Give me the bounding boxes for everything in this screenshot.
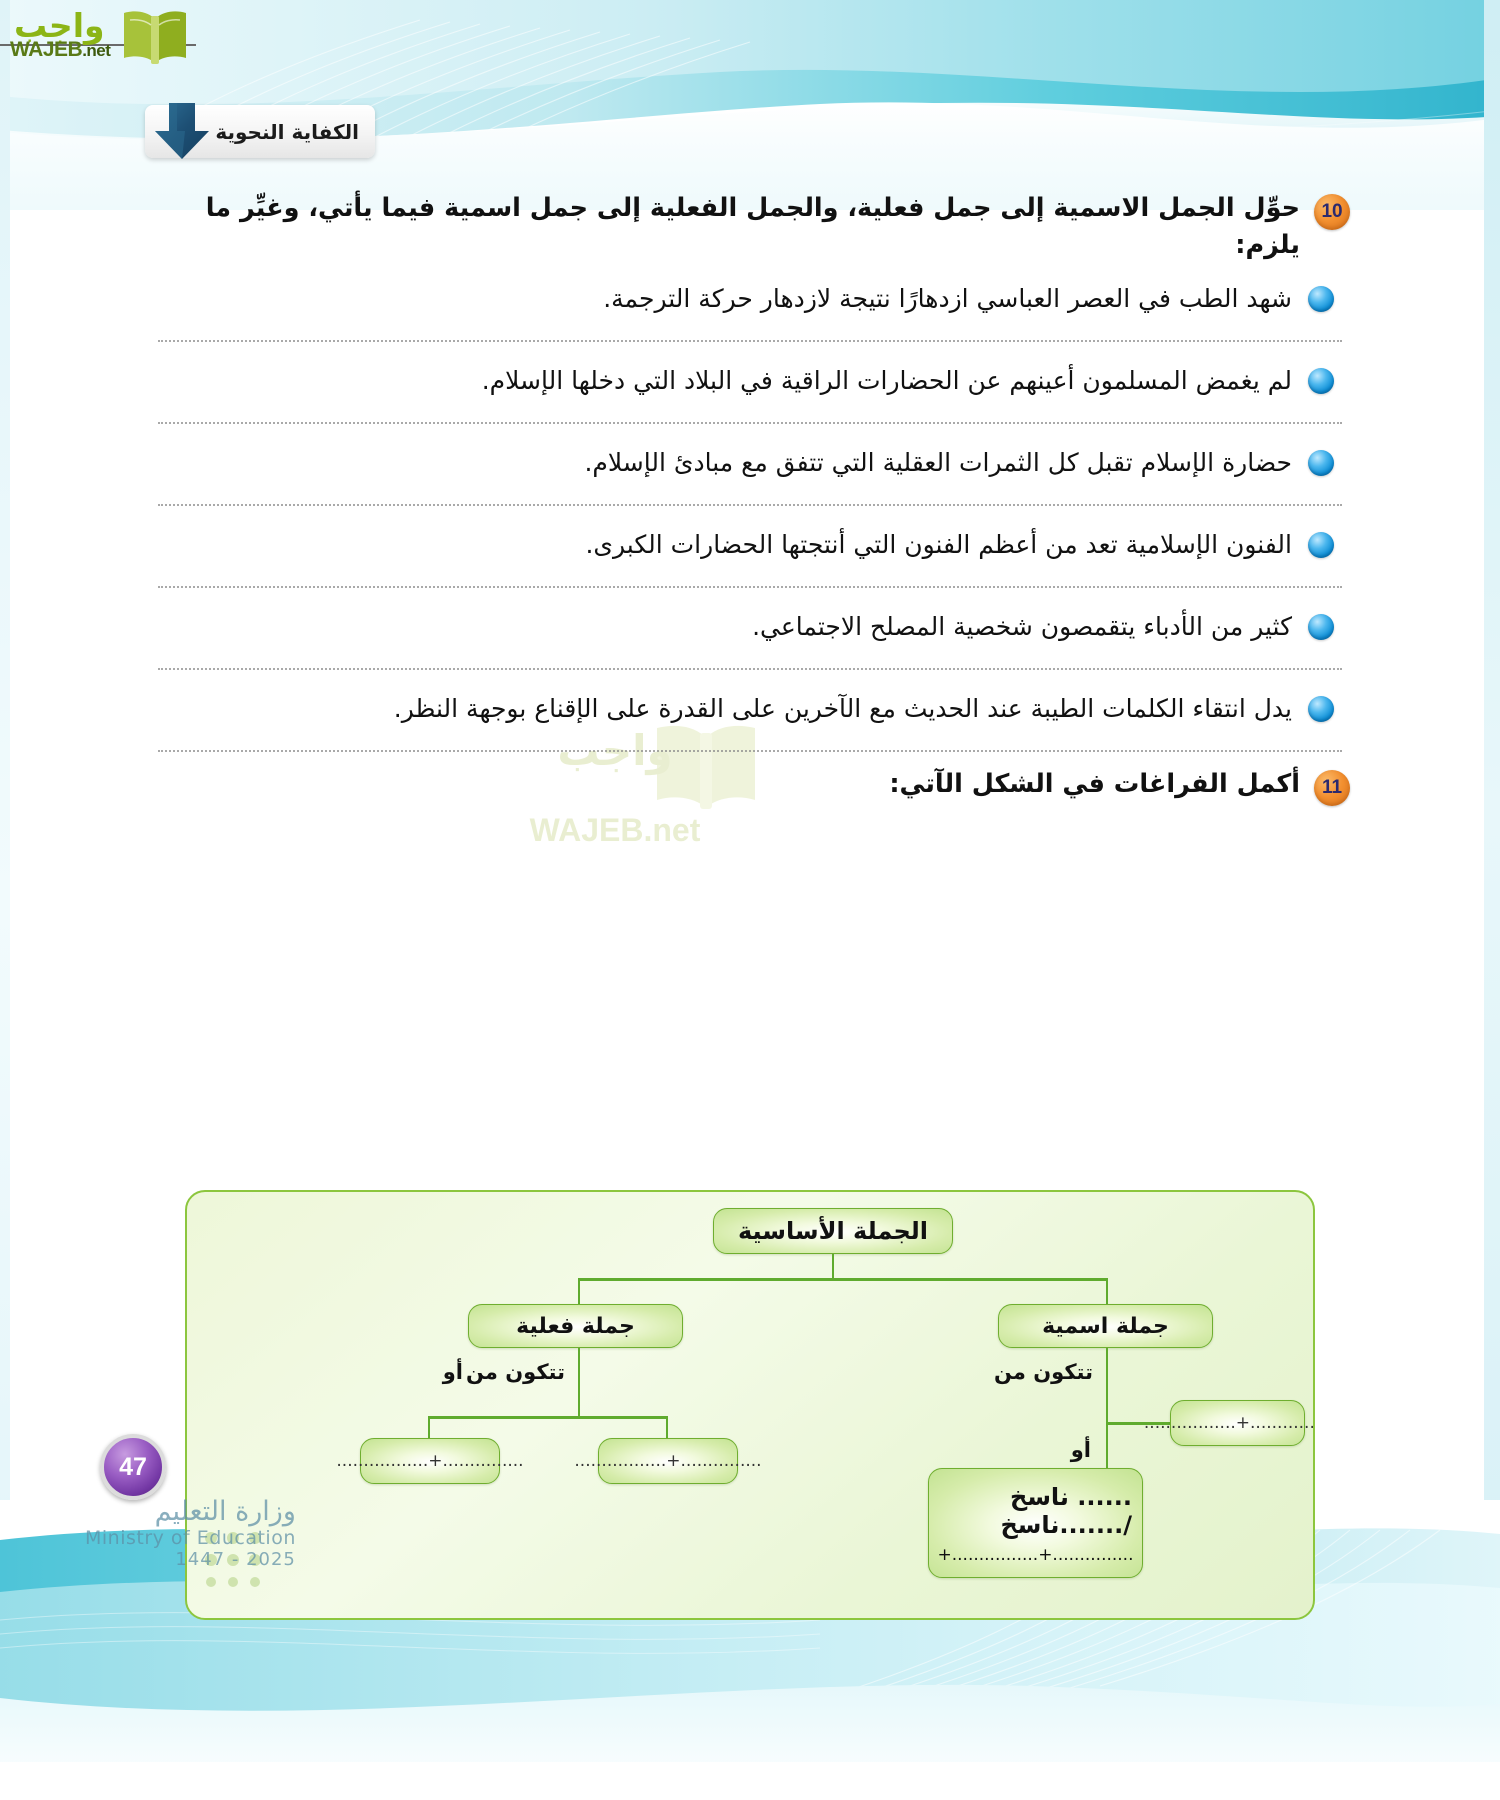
nasikh-blank-field: ...............+................+ xyxy=(937,1545,1133,1565)
bullet-row: حضارة الإسلام تقبل كل الثمرات العقلية ال… xyxy=(150,432,1350,494)
blue-bullet-icon xyxy=(1308,532,1334,558)
competency-tab-label: الكفاية النحوية xyxy=(215,120,359,144)
label-verbal-composed-of: تتكون من xyxy=(466,1360,565,1384)
connector-verbal-bus-right xyxy=(428,1416,431,1438)
answer-line[interactable] xyxy=(158,340,1342,342)
node-label: جملة فعلية xyxy=(516,1314,635,1339)
diagram-node-verbal: جملة فعلية xyxy=(468,1304,683,1348)
ministry-year: 2025 - 1447 xyxy=(85,1549,296,1570)
label-verbal-or: أو xyxy=(443,1360,463,1384)
bullet-row: شهد الطب في العصر العباسي ازدهارًا نتيجة… xyxy=(150,268,1350,330)
watermark-latin: WAJEB.net xyxy=(455,812,775,849)
list-item: كثير من الأدباء يتقمصون شخصية المصلح الا… xyxy=(150,596,1350,670)
bullet-row: الفنون الإسلامية تعد من أعظم الفنون التي… xyxy=(150,514,1350,576)
label-nominal-or: أو xyxy=(1071,1438,1091,1462)
connector-root-stem xyxy=(832,1254,835,1278)
textbook-page: واجب WAJEB.net الكفاية النحوية xyxy=(0,0,1500,1800)
ministry-english: Ministry of Education xyxy=(85,1527,296,1549)
open-book-icon xyxy=(120,8,190,66)
blue-bullet-icon xyxy=(1308,286,1334,312)
question-number-badge: 10 xyxy=(1314,194,1350,230)
diagram-frame: الجملة الأساسية جملة اسمية جملة فعلية تت… xyxy=(185,1190,1315,1620)
blue-bullet-icon xyxy=(1308,614,1334,640)
competency-tab-box: الكفاية النحوية xyxy=(145,105,375,158)
connector-verbal-stem xyxy=(578,1348,581,1416)
competency-tab: الكفاية النحوية xyxy=(145,105,375,158)
sentence-text: كثير من الأدباء يتقمصون شخصية المصلح الا… xyxy=(752,609,1292,644)
wajeb-logo: واجب WAJEB.net xyxy=(8,6,188,68)
answer-line[interactable] xyxy=(158,750,1342,752)
sentence-text: لم يغمض المسلمون أعينهم عن الحضارات الرا… xyxy=(482,363,1292,398)
list-item: الفنون الإسلامية تعد من أعظم الفنون التي… xyxy=(150,514,1350,588)
diagram-node-nasikh: ...... ناسخ /.......ناسخ ...............… xyxy=(928,1468,1143,1578)
diagram-node-verbal-blank-left: ...............+................. xyxy=(360,1438,500,1484)
blank-field: ...............+................. xyxy=(574,1451,761,1471)
connector-to-verbal xyxy=(578,1278,581,1304)
question-number-badge: 11 xyxy=(1314,770,1350,806)
diagram-node-nominal: جملة اسمية xyxy=(998,1304,1213,1348)
connector-to-nominal xyxy=(1106,1278,1109,1304)
bullet-row: كثير من الأدباء يتقمصون شخصية المصلح الا… xyxy=(150,596,1350,658)
sentence-text: حضارة الإسلام تقبل كل الثمرات العقلية ال… xyxy=(584,445,1292,480)
connector-verbal-bus xyxy=(428,1416,668,1419)
node-label: الجملة الأساسية xyxy=(738,1217,928,1245)
bullet-row: يدل انتقاء الكلمات الطيبة عند الحديث مع … xyxy=(150,678,1350,740)
question-10-prompt: حوِّل الجمل الاسمية إلى جمل فعلية، والجم… xyxy=(150,190,1300,264)
nasikh-title: ...... ناسخ /.......ناسخ xyxy=(939,1483,1132,1539)
blue-bullet-icon xyxy=(1308,368,1334,394)
wajeb-logo-latin: WAJEB.net xyxy=(10,38,110,62)
blank-field: ...............+................. xyxy=(336,1451,523,1471)
question-11-row: 11 أكمل الفراغات في الشكل الآتي: xyxy=(150,766,1350,806)
diagram-node-verbal-blank-right: ...............+................. xyxy=(598,1438,738,1484)
connector-verbal-bus-left xyxy=(666,1416,669,1438)
diagram-node-nominal-blank: ...............+................. xyxy=(1170,1400,1305,1446)
answer-line[interactable] xyxy=(158,668,1342,670)
down-arrow-icon xyxy=(153,101,211,161)
sentence-text: شهد الطب في العصر العباسي ازدهارًا نتيجة… xyxy=(603,281,1292,316)
blue-bullet-icon xyxy=(1308,450,1334,476)
diagram-node-root: الجملة الأساسية xyxy=(713,1208,953,1254)
ministry-arabic: وزارة التعليم xyxy=(85,1497,296,1527)
answer-line[interactable] xyxy=(158,586,1342,588)
sentence-text: الفنون الإسلامية تعد من أعظم الفنون التي… xyxy=(585,527,1292,562)
blue-bullet-icon xyxy=(1308,696,1334,722)
blank-field: ...............+................. xyxy=(1144,1413,1315,1433)
page-number-badge: 47 xyxy=(100,1434,166,1500)
connector-nominal-stem xyxy=(1106,1348,1109,1468)
question-10-row: 10 حوِّل الجمل الاسمية إلى جمل فعلية، وا… xyxy=(150,190,1350,264)
list-item: شهد الطب في العصر العباسي ازدهارًا نتيجة… xyxy=(150,268,1350,342)
answer-line[interactable] xyxy=(158,422,1342,424)
list-item: حضارة الإسلام تقبل كل الثمرات العقلية ال… xyxy=(150,432,1350,506)
sentence-text: يدل انتقاء الكلمات الطيبة عند الحديث مع … xyxy=(394,691,1292,726)
node-label: جملة اسمية xyxy=(1042,1314,1169,1339)
ministry-of-education-mark: وزارة التعليم Ministry of Education 2025… xyxy=(85,1497,296,1570)
list-item: لم يغمض المسلمون أعينهم عن الحضارات الرا… xyxy=(150,350,1350,424)
connector-root-bus xyxy=(578,1278,1108,1281)
bullet-row: لم يغمض المسلمون أعينهم عن الحضارات الرا… xyxy=(150,350,1350,412)
sentence-structure-diagram: الجملة الأساسية جملة اسمية جملة فعلية تت… xyxy=(185,1190,1315,1620)
label-nominal-composed-of: تتكون من xyxy=(994,1360,1093,1384)
list-item: يدل انتقاء الكلمات الطيبة عند الحديث مع … xyxy=(150,678,1350,752)
question-11-prompt: أكمل الفراغات في الشكل الآتي: xyxy=(889,766,1300,803)
answer-line[interactable] xyxy=(158,504,1342,506)
page-content: 10 حوِّل الجمل الاسمية إلى جمل فعلية، وا… xyxy=(150,190,1350,810)
